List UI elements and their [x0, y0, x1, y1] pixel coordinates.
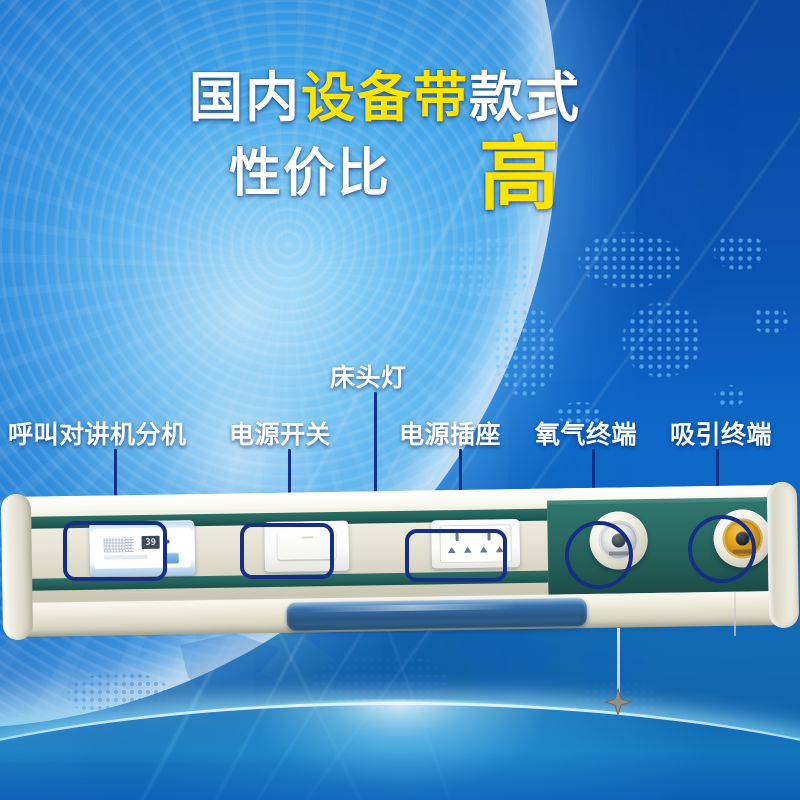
headline-line1-part3: 款式	[469, 70, 581, 127]
headline-line2-part2: 高	[479, 137, 561, 213]
panel-end-cap-left	[1, 494, 33, 640]
callout-label-bedlamp: 床头灯	[330, 358, 407, 394]
callout-label-socket: 电源插座	[399, 415, 501, 451]
headline-block: 国内 设备带 款式 性价比 高	[0, 70, 800, 213]
highlight-circle-oxygen	[565, 521, 633, 589]
halftone-world-map-icon	[430, 200, 800, 450]
headline-line2-part1: 性价比	[229, 147, 391, 202]
poster-canvas: 国内 设备带 款式 性价比 高 呼叫对讲机分机 电源开关 床头灯 电源插座 氧气…	[0, 0, 800, 800]
highlight-box-switch	[240, 523, 334, 579]
headline-line1-part1: 国内	[189, 70, 301, 127]
oxygen-hanging-cord	[617, 628, 620, 694]
callout-label-suction: 吸引终端	[670, 415, 772, 451]
highlight-circle-suction	[688, 515, 756, 583]
callout-label-oxygen: 氧气终端	[535, 415, 637, 451]
bed-reading-lamp-lens[interactable]	[287, 598, 587, 631]
panel-end-cap-right	[767, 482, 799, 628]
headline-line-1: 国内 设备带 款式	[0, 70, 800, 127]
headline-line1-part2: 设备带	[301, 70, 469, 127]
callout-label-switch: 电源开关	[229, 415, 331, 451]
headline-line-2: 性价比 高	[0, 137, 800, 213]
cord-hook-icon	[604, 688, 632, 716]
callout-label-intercom: 呼叫对讲机分机	[8, 415, 187, 451]
bottom-gradient-wash	[0, 690, 800, 800]
highlight-box-socket	[405, 529, 507, 582]
highlight-box-intercom	[63, 521, 167, 581]
lamp-gloss-highlight	[307, 603, 517, 612]
suction-hanging-cord	[734, 592, 736, 636]
